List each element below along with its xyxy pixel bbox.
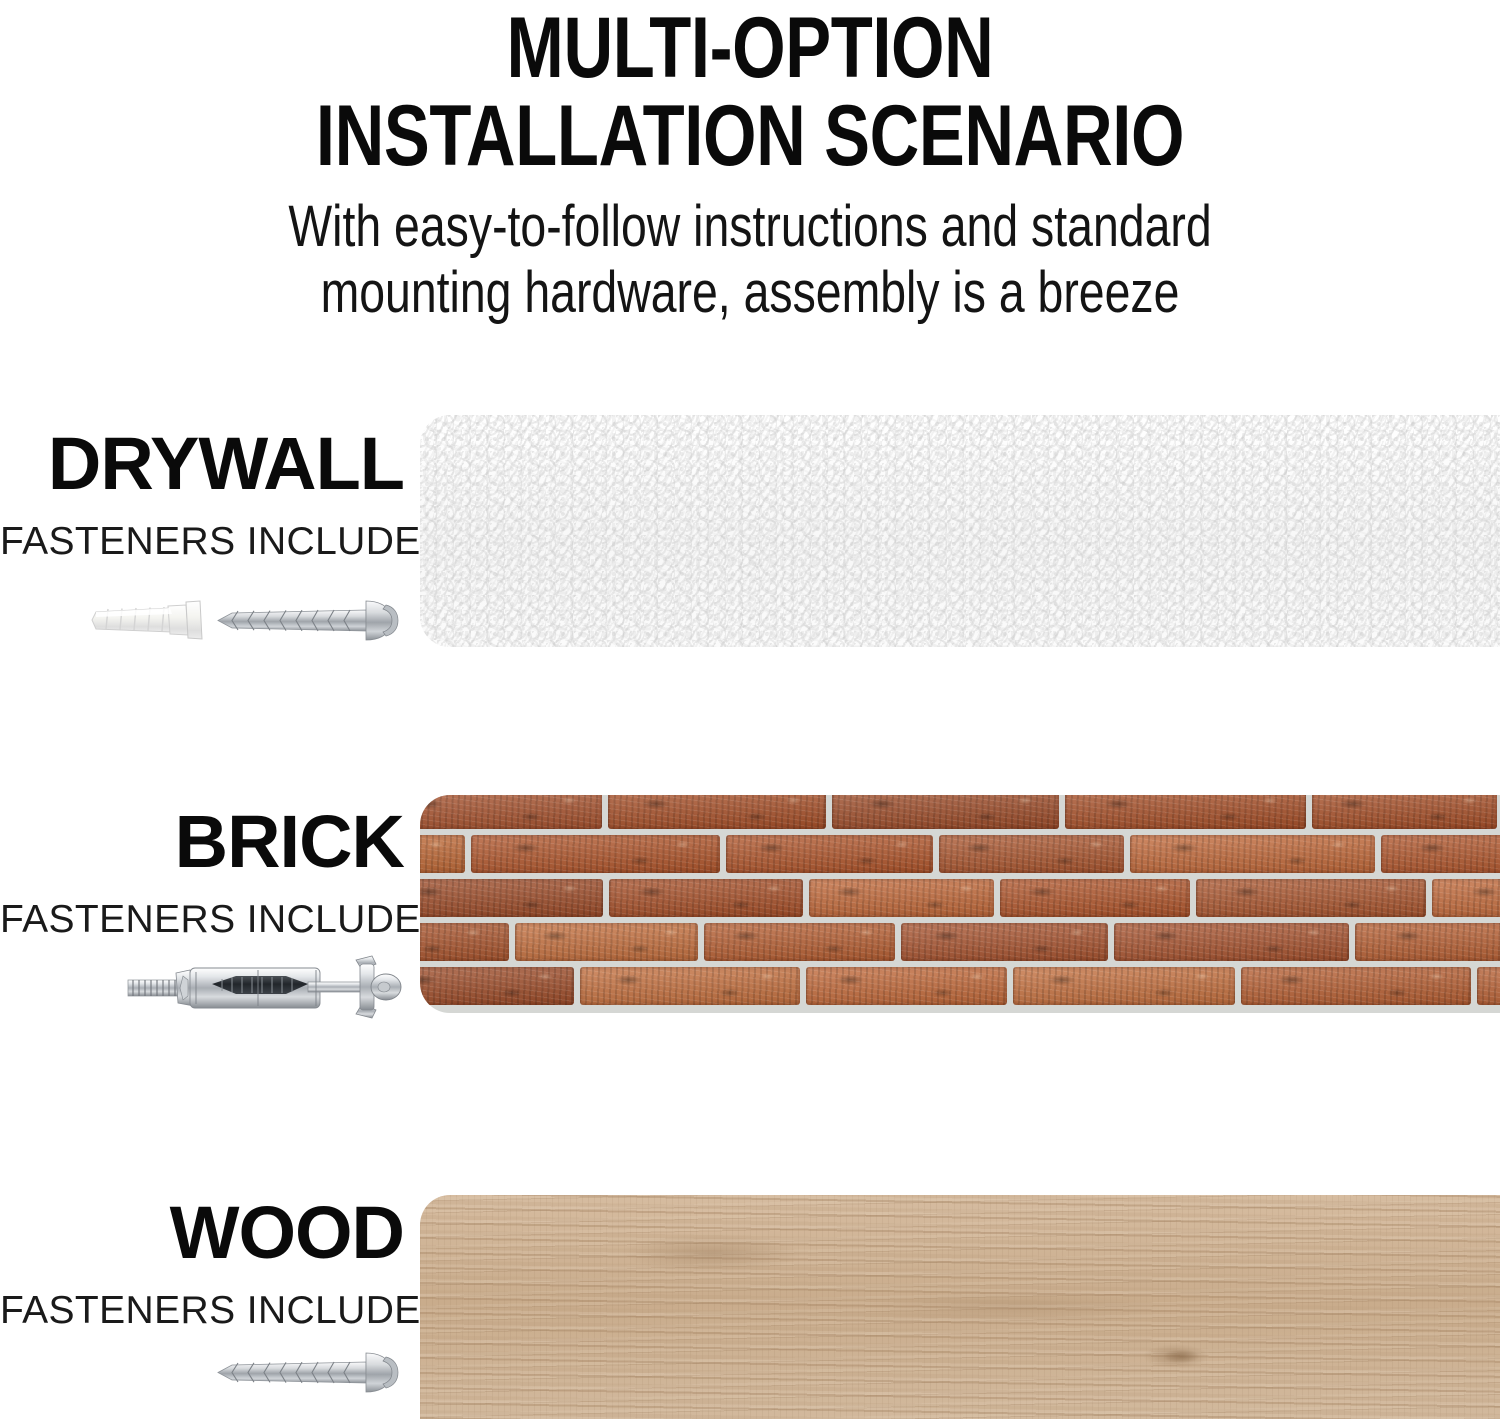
brick bbox=[939, 835, 1124, 873]
brick bbox=[1355, 923, 1500, 961]
brick-texture-swatch bbox=[420, 795, 1500, 1013]
brick bbox=[515, 923, 698, 961]
fasteners-included-drywall: FASTENERS INCLUDED bbox=[0, 501, 404, 563]
wood-hardware-group bbox=[0, 1348, 404, 1422]
brick bbox=[1013, 967, 1235, 1005]
plastic-wall-anchor-icon bbox=[92, 601, 202, 639]
drywall-hardware-group bbox=[0, 588, 404, 662]
material-name-drywall: DRYWALL bbox=[0, 427, 404, 501]
material-name-wood: WOOD bbox=[0, 1196, 404, 1270]
washer-head-screw-icon bbox=[218, 601, 398, 640]
brick-hardware-group bbox=[0, 946, 404, 1030]
molly-bolt-anchor-icon bbox=[128, 956, 401, 1018]
brick bbox=[420, 795, 602, 829]
brick bbox=[420, 923, 509, 961]
brick bbox=[1196, 879, 1426, 917]
brick bbox=[832, 795, 1059, 829]
brick bbox=[1065, 795, 1306, 829]
brick bbox=[1000, 879, 1190, 917]
brick bbox=[1381, 835, 1500, 873]
material-name-brick: BRICK bbox=[0, 805, 404, 879]
drywall-label-group: DRYWALL FASTENERS INCLUDED bbox=[0, 427, 404, 563]
fasteners-included-wood: FASTENERS INCLUDED bbox=[0, 1270, 404, 1332]
brick bbox=[471, 835, 720, 873]
wood-texture-swatch bbox=[420, 1195, 1500, 1419]
brick bbox=[809, 879, 994, 917]
brick bbox=[1241, 967, 1471, 1005]
brick bbox=[420, 835, 465, 873]
brick bbox=[1114, 923, 1349, 961]
wood-screw-icon bbox=[218, 1353, 398, 1392]
brick-course bbox=[420, 967, 1500, 1005]
brick-course bbox=[420, 835, 1500, 873]
brick bbox=[726, 835, 933, 873]
brick bbox=[580, 967, 800, 1005]
brick bbox=[420, 879, 603, 917]
brick bbox=[609, 879, 803, 917]
wood-label-group: WOOD FASTENERS INCLUDED bbox=[0, 1196, 404, 1332]
installation-row-brick: BRICK FASTENERS INCLUDED bbox=[0, 0, 1500, 218]
brick bbox=[1130, 835, 1375, 873]
brick bbox=[806, 967, 1007, 1005]
brick-course bbox=[420, 923, 1500, 961]
brick bbox=[1312, 795, 1497, 829]
brick bbox=[420, 967, 574, 1005]
brick bbox=[901, 923, 1108, 961]
brick-course bbox=[420, 879, 1500, 917]
fasteners-included-brick: FASTENERS INCLUDED bbox=[0, 879, 404, 941]
brick-course bbox=[420, 795, 1500, 829]
brick bbox=[608, 795, 826, 829]
brick bbox=[1477, 967, 1500, 1005]
brick bbox=[704, 923, 895, 961]
brick bbox=[1432, 879, 1500, 917]
brick-label-group: BRICK FASTENERS INCLUDED bbox=[0, 805, 404, 941]
drywall-texture-swatch bbox=[420, 415, 1500, 647]
